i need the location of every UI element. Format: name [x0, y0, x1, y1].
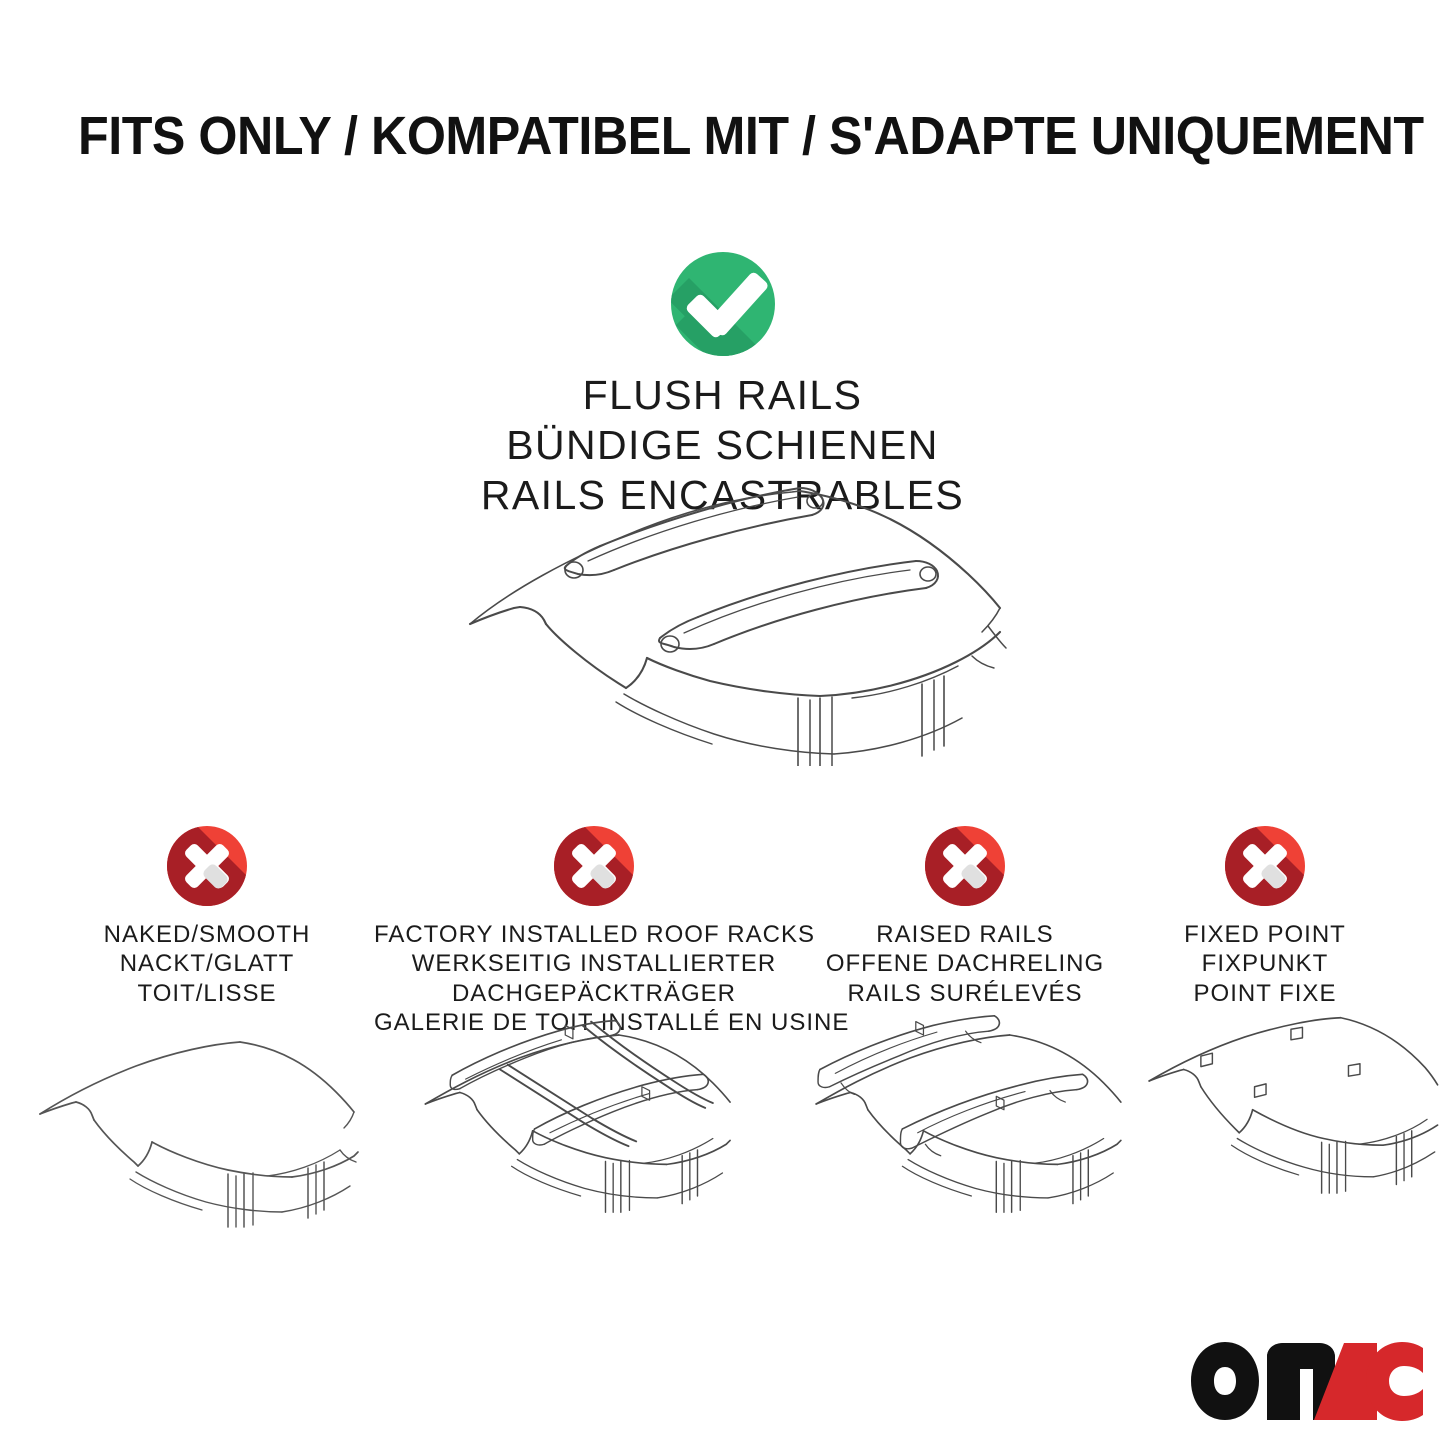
incompatible-label: RAISED RAILS OFFENE DACHRELING RAILS SUR…	[805, 920, 1125, 1008]
red-x-circle-icon	[167, 826, 247, 906]
x-glyph	[925, 826, 1005, 906]
omac-logo	[1187, 1339, 1423, 1423]
car-roof-factory-racks-illustration	[404, 1012, 784, 1242]
label-line-de: NACKT/GLATT	[47, 949, 367, 978]
red-x-circle-icon	[1225, 826, 1305, 906]
x-glyph	[554, 826, 634, 906]
x-glyph	[167, 826, 247, 906]
red-x-circle-icon	[925, 826, 1005, 906]
logo-letter-o	[1191, 1342, 1259, 1420]
label-line-fr: TOIT/LISSE	[47, 979, 367, 1008]
incompatible-item-naked-smooth: NAKED/SMOOTH NACKT/GLATT TOIT/LISSE	[47, 826, 367, 1008]
label-line-fr: RAILS SURÉLEVÉS	[805, 979, 1125, 1008]
label-line-de: FIXPUNKT	[1125, 949, 1405, 978]
label-line-de-1: WERKSEITIG INSTALLIERTER	[374, 949, 814, 978]
green-check-circle-icon	[671, 252, 775, 356]
car-roof-fixed-point-illustration	[1135, 1012, 1445, 1242]
car-roof-naked-smooth-illustration	[24, 1022, 374, 1252]
x-glyph	[1225, 826, 1305, 906]
check-glyph	[671, 252, 775, 356]
product-compatibility-infographic: FITS ONLY / KOMPATIBEL MIT / S'ADAPTE UN…	[0, 0, 1445, 1445]
compatible-label-line-en: FLUSH RAILS	[0, 370, 1445, 420]
label-line-en: NAKED/SMOOTH	[47, 920, 367, 949]
label-line-en: FIXED POINT	[1125, 920, 1405, 949]
omac-logo-mark	[1187, 1339, 1423, 1423]
label-line-de-2: DACHGEPÄCKTRÄGER	[374, 979, 814, 1008]
red-x-circle-icon	[554, 826, 634, 906]
incompatible-label: NAKED/SMOOTH NACKT/GLATT TOIT/LISSE	[47, 920, 367, 1008]
incompatible-label: FIXED POINT FIXPUNKT POINT FIXE	[1125, 920, 1405, 1008]
label-line-en: FACTORY INSTALLED ROOF RACKS	[374, 920, 814, 949]
incompatible-item-fixed-point: FIXED POINT FIXPUNKT POINT FIXE	[1125, 826, 1405, 1008]
label-line-fr: POINT FIXE	[1125, 979, 1405, 1008]
incompatible-section: NAKED/SMOOTH NACKT/GLATT TOIT/LISSE FACT…	[0, 826, 1445, 1026]
incompatible-item-raised-rails: RAISED RAILS OFFENE DACHRELING RAILS SUR…	[805, 826, 1125, 1008]
incompatible-item-factory-installed-roof-racks: FACTORY INSTALLED ROOF RACKS WERKSEITIG …	[374, 826, 814, 1037]
car-roof-raised-rails-illustration	[795, 1012, 1165, 1242]
label-line-de: OFFENE DACHRELING	[805, 949, 1125, 978]
label-line-en: RAISED RAILS	[805, 920, 1125, 949]
compatible-label-line-de: BÜNDIGE SCHIENEN	[0, 420, 1445, 470]
page-title: FITS ONLY / KOMPATIBEL MIT / S'ADAPTE UN…	[78, 108, 1287, 165]
car-roof-flush-rails-illustration	[448, 466, 1018, 766]
